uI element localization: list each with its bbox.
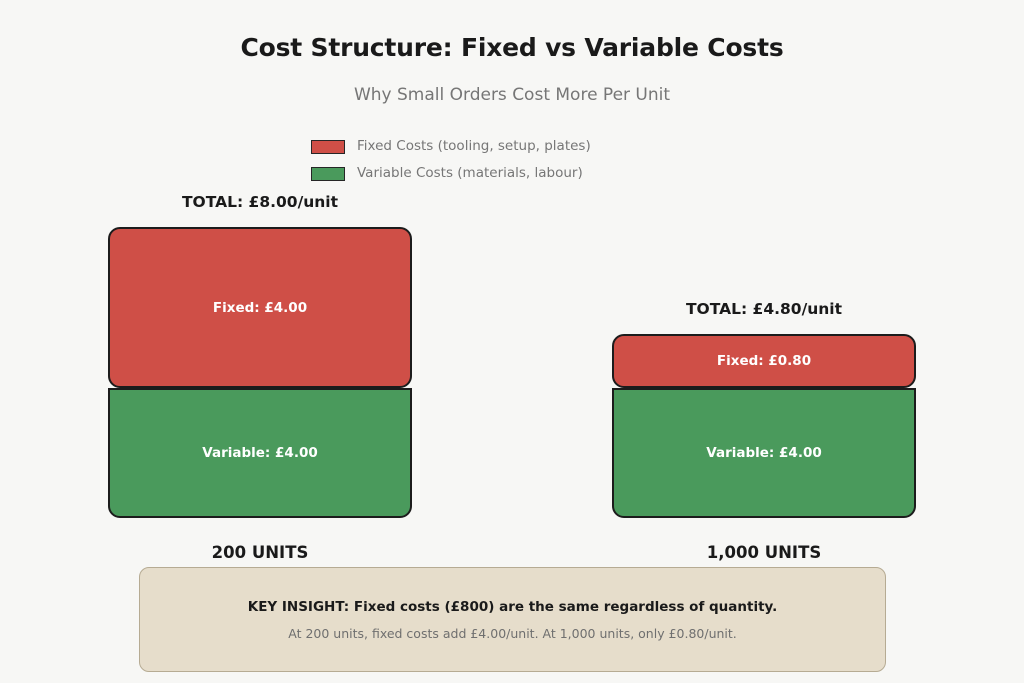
bar-segment-variable-label-1000-units: Variable: £4.00	[706, 445, 821, 461]
legend-swatch-variable-icon	[311, 167, 345, 181]
bar-caption-1000-units: 1,000 UNITS	[612, 543, 916, 562]
bar-segment-fixed-label-200-units: Fixed: £4.00	[213, 300, 307, 316]
legend-item-variable: Variable Costs (materials, labour)	[311, 166, 591, 181]
bar-segment-variable-label-200-units: Variable: £4.00	[202, 445, 317, 461]
chart-title: Cost Structure: Fixed vs Variable Costs	[0, 33, 1024, 62]
chart-subtitle: Why Small Orders Cost More Per Unit	[0, 85, 1024, 105]
bar-stack-1000-units: Fixed: £0.80 Variable: £4.00	[612, 334, 916, 518]
bar-segment-variable-200-units[interactable]: Variable: £4.00	[108, 388, 412, 518]
key-insight-headline: KEY INSIGHT: Fixed costs (£800) are the …	[248, 599, 778, 615]
legend-label-fixed: Fixed Costs (tooling, setup, plates)	[357, 139, 591, 154]
key-insight-detail: At 200 units, fixed costs add £4.00/unit…	[288, 626, 737, 641]
chart-legend: Fixed Costs (tooling, setup, plates) Var…	[311, 139, 591, 181]
bar-group-1000-units: TOTAL: £4.80/unit Fixed: £0.80 Variable:…	[612, 334, 916, 518]
bar-segment-fixed-200-units[interactable]: Fixed: £4.00	[108, 227, 412, 388]
cost-structure-chart: Cost Structure: Fixed vs Variable Costs …	[0, 0, 1024, 683]
bar-segment-fixed-label-1000-units: Fixed: £0.80	[717, 353, 811, 369]
bar-segment-variable-1000-units[interactable]: Variable: £4.00	[612, 388, 916, 518]
bar-caption-200-units: 200 UNITS	[108, 543, 412, 562]
key-insight-box: KEY INSIGHT: Fixed costs (£800) are the …	[139, 567, 886, 672]
legend-item-fixed: Fixed Costs (tooling, setup, plates)	[311, 139, 591, 154]
bar-total-label-1000-units: TOTAL: £4.80/unit	[612, 300, 916, 318]
bar-total-label-200-units: TOTAL: £8.00/unit	[108, 193, 412, 211]
bar-stack-200-units: Fixed: £4.00 Variable: £4.00	[108, 227, 412, 518]
legend-label-variable: Variable Costs (materials, labour)	[357, 166, 583, 181]
legend-swatch-fixed-icon	[311, 140, 345, 154]
bar-group-200-units: TOTAL: £8.00/unit Fixed: £4.00 Variable:…	[108, 227, 412, 518]
bar-segment-fixed-1000-units[interactable]: Fixed: £0.80	[612, 334, 916, 388]
